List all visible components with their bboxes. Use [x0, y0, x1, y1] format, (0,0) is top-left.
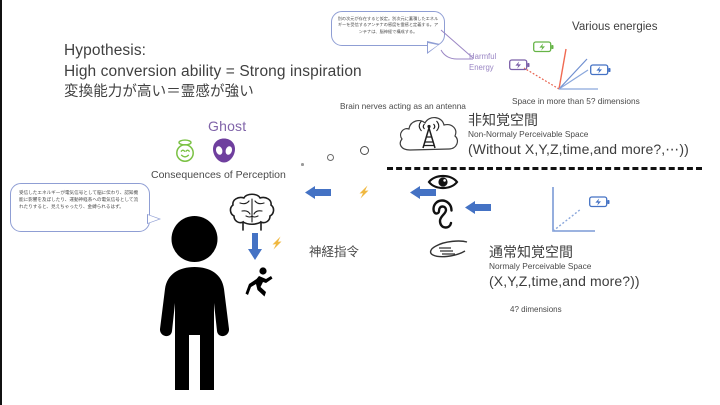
non-perceivable-space-en: Non-Normaly Perceivable Space	[468, 129, 689, 140]
ghost-label: Ghost	[208, 118, 246, 134]
hypothesis-line-1: Hypothesis:	[64, 40, 362, 61]
brain-antenna-label: Brain nerves acting as an antenna	[340, 101, 466, 111]
ear-icon	[431, 199, 457, 229]
perception-bubble: 受信したエネルギーが電気信号として脳に伝わり、認知機能に影響を及ぼしたり、運動神…	[10, 183, 150, 232]
space-divider	[387, 167, 702, 170]
assumption-bubble: 別の次元が存在すると仮定。別次元に蓄積したエネルギーを受信するアンテナの感度を霊…	[331, 11, 445, 46]
perceivable-space-block: 通常知覚空間 Normaly Perceivable Space (X,Y,Z,…	[489, 245, 640, 290]
space-5d-label: Space in more than 5? dimensions	[512, 96, 640, 106]
non-perceivable-space-block: 非知覚空間 Non-Normaly Perceivable Space (Wit…	[468, 113, 689, 158]
perception-bubble-text: 受信したエネルギーが電気信号として脳に伝わり、認知機能に影響を及ぼしたり、運動神…	[19, 191, 138, 210]
page-title: Hypothesis: High conversion ability = St…	[64, 40, 362, 103]
battery-charging-green-icon	[533, 41, 554, 53]
flow-arrow-down	[248, 233, 262, 260]
perceivable-space-en: Normaly Perceivable Space	[489, 261, 640, 272]
lightning-bolt-icon-2	[271, 236, 283, 250]
perceivable-space-paren: (X,Y,Z,time,and more?))	[489, 272, 640, 290]
axis-3d-icon	[547, 185, 597, 240]
antenna-cloud-icon	[396, 112, 462, 160]
hypothesis-line-2: High conversion ability = Strong inspira…	[64, 61, 362, 82]
flow-arrow-left-1	[305, 186, 331, 199]
person-silhouette-icon	[157, 215, 232, 390]
battery-charging-purple-icon	[509, 59, 530, 71]
lightning-bolt-icon-1	[358, 185, 370, 199]
flow-arrow-left-3	[465, 201, 491, 214]
non-perceivable-space-paren: (Without X,Y,Z,time,and more?,⋯))	[468, 140, 689, 158]
perceivable-space-jp: 通常知覚空間	[489, 245, 640, 261]
assumption-bubble-text: 別の次元が存在すると仮定。別次元に蓄積したエネルギーを受信するアンテナの感度を霊…	[338, 16, 439, 34]
harmful-energy-arrow	[439, 28, 481, 68]
bubble-tail-inner	[428, 43, 438, 52]
consequences-label: Consequences of Perception	[151, 169, 286, 181]
alien-emoji	[211, 137, 237, 164]
energy-dot-small	[301, 163, 304, 166]
hand-icon	[427, 239, 469, 259]
dimensions-4-label: 4? dimensions	[510, 305, 562, 314]
nerve-command-label: 神経指令	[309, 241, 359, 260]
slide-canvas: Hypothesis: High conversion ability = St…	[0, 0, 720, 405]
various-energies-label: Various energies	[572, 21, 657, 33]
energy-dot-medium	[327, 154, 334, 161]
hypothesis-line-3-jp: 変換能力が高い＝霊感が強い	[64, 82, 362, 103]
running-person-icon	[245, 267, 273, 297]
battery-charging-blue-icon	[590, 64, 611, 76]
battery-charging-axis-icon	[589, 196, 610, 208]
energy-dot-large	[360, 146, 369, 155]
angel-face-emoji	[172, 138, 198, 164]
non-perceivable-space-jp: 非知覚空間	[468, 113, 689, 129]
brain-icon	[228, 192, 276, 232]
flow-arrow-left-2	[410, 186, 436, 199]
